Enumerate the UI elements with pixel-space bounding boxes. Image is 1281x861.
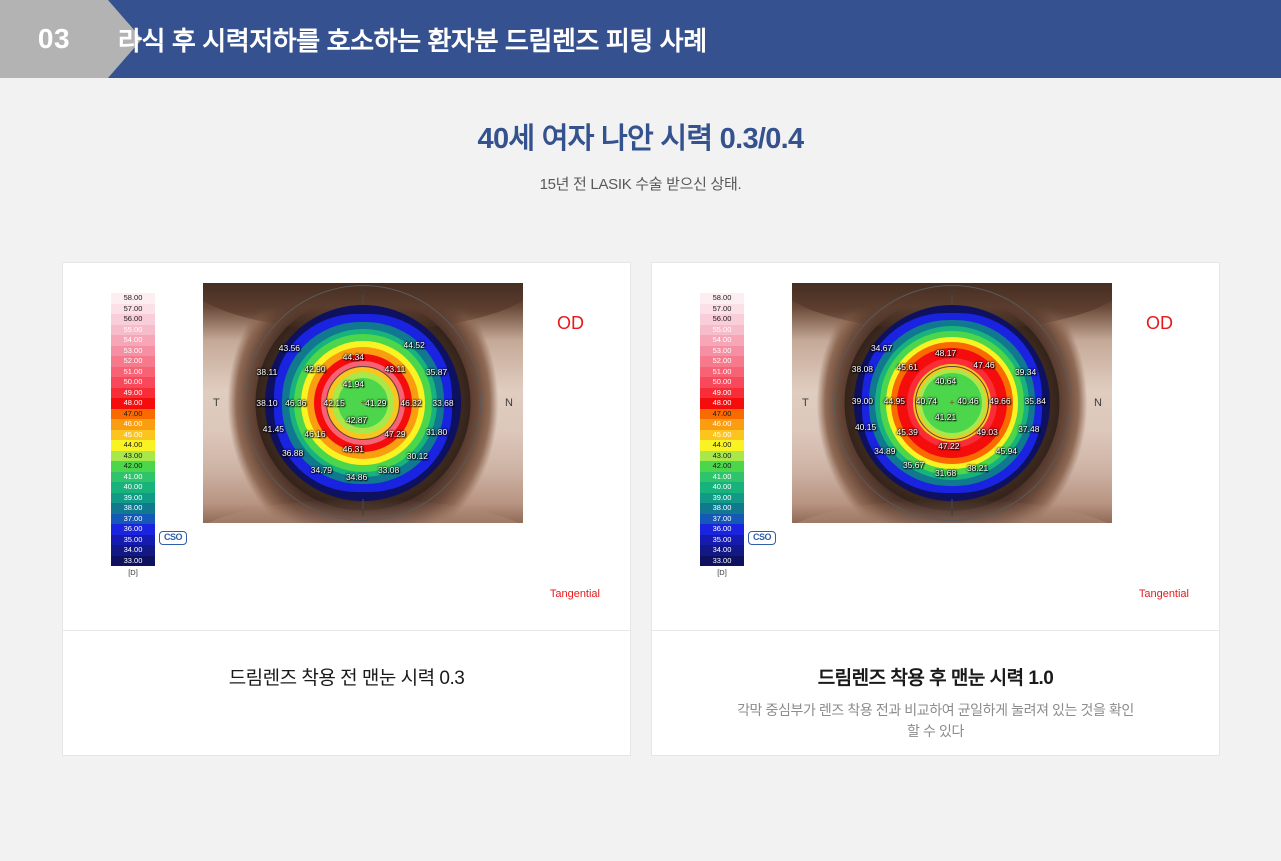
topography-value-label: 46.32	[400, 398, 421, 408]
color-scale-row: 42.00	[111, 461, 155, 472]
axis-tick	[363, 295, 364, 305]
topography-value-label: 46.31	[343, 444, 364, 454]
color-scale-row: 57.00	[700, 304, 744, 315]
eye-side-label: OD	[1146, 313, 1173, 334]
color-scale-row: 53.00	[700, 346, 744, 357]
color-scale-row: 46.00	[700, 419, 744, 430]
topography-value-label: 47.22	[938, 441, 959, 451]
topography-value-label: 41.45	[263, 424, 284, 434]
topography-value-label: 46.36	[285, 398, 306, 408]
topography-card: 58.0057.0056.0055.0054.0053.0052.0051.00…	[62, 262, 631, 756]
color-scale-row: 40.00	[700, 482, 744, 493]
topography-value-label: 44.95	[884, 396, 905, 406]
axis-tick	[952, 499, 953, 509]
color-scale-row: 48.00	[700, 398, 744, 409]
cso-logo-icon: CSO	[159, 531, 187, 545]
dioptre-color-scale: 58.0057.0056.0055.0054.0053.0052.0051.00…	[111, 293, 157, 577]
main-title: 40세 여자 나안 시력 0.3/0.4	[0, 122, 1281, 157]
topography-value-label: 42.90	[304, 364, 325, 374]
color-scale-row: 50.00	[111, 377, 155, 388]
color-scale-row: 58.00	[700, 293, 744, 304]
topography-value-label: 33.68	[432, 398, 453, 408]
color-scale-row: 53.00	[111, 346, 155, 357]
color-scale-row: 33.00	[700, 556, 744, 567]
color-scale-row: 37.00	[111, 514, 155, 525]
color-scale-row: 51.00	[111, 367, 155, 378]
axis-tick	[363, 499, 364, 509]
topography-value-label: 45.94	[996, 446, 1017, 456]
color-scale-row: 58.00	[111, 293, 155, 304]
caption-title: 드림렌즈 착용 전 맨눈 시력 0.3	[229, 667, 465, 692]
topography-value-label: 38.11	[257, 367, 278, 377]
color-scale-row: 52.00	[700, 356, 744, 367]
scale-unit-label: [D]	[700, 568, 744, 577]
topography-value-label: 35.87	[426, 367, 447, 377]
topography-value-label: 34.89	[874, 446, 895, 456]
color-scale-row: 42.00	[700, 461, 744, 472]
color-scale-row: 35.00	[700, 535, 744, 546]
color-scale-row: 39.00	[111, 493, 155, 504]
color-scale-row: 55.00	[111, 325, 155, 336]
topography-value-label: 40.64	[935, 376, 956, 386]
color-scale-row: 47.00	[700, 409, 744, 420]
color-scale-row: 54.00	[700, 335, 744, 346]
topography-value-label: 30.12	[407, 451, 428, 461]
color-scale-row: 47.00	[111, 409, 155, 420]
color-scale-row: 36.00	[111, 524, 155, 535]
scale-unit-label: [D]	[111, 568, 155, 577]
color-scale-row: 49.00	[111, 388, 155, 399]
topography-value-label: 40.74	[916, 396, 937, 406]
color-scale-row: 39.00	[700, 493, 744, 504]
topography-value-label: 44.34	[343, 352, 364, 362]
topography-value-label: 43.56	[279, 343, 300, 353]
color-scale-row: 56.00	[700, 314, 744, 325]
topography-figure: 58.0057.0056.0055.0054.0053.0052.0051.00…	[652, 263, 1219, 631]
topography-value-label: 42.87	[346, 415, 367, 425]
compass-label-temporal: T	[802, 397, 809, 409]
color-scale-row: 43.00	[700, 451, 744, 462]
topography-value-label: 39.34	[1015, 367, 1036, 377]
color-scale-row: 37.00	[700, 514, 744, 525]
topography-value-label: 38.21	[967, 463, 988, 473]
color-scale-row: 52.00	[111, 356, 155, 367]
color-scale-row: 45.00	[700, 430, 744, 441]
color-scale-row: 44.00	[700, 440, 744, 451]
color-scale-row: 38.00	[700, 503, 744, 514]
color-scale-row: 54.00	[111, 335, 155, 346]
sub-title: 15년 전 LASIK 수술 받으신 상태.	[0, 173, 1281, 194]
topography-value-label: 34.79	[311, 465, 332, 475]
title-area: 40세 여자 나안 시력 0.3/0.4 15년 전 LASIK 수술 받으신 …	[0, 78, 1281, 194]
topography-value-label: 49.66	[989, 396, 1010, 406]
topography-value-label: 47.29	[384, 429, 405, 439]
color-scale-row: 55.00	[700, 325, 744, 336]
topography-card-list: 58.0057.0056.0055.0054.0053.0052.0051.00…	[62, 262, 1220, 756]
color-scale-row: 36.00	[700, 524, 744, 535]
map-mode-label: Tangential	[1139, 588, 1189, 600]
corneal-topography-map: SITN+43.5644.3444.5238.1142.9043.1135.87…	[203, 283, 523, 523]
topography-value-label: 44.52	[404, 340, 425, 350]
caption-subtitle: 각막 중심부가 렌즈 착용 전과 비교하여 균일하게 눌려져 있는 것을 확인할…	[736, 700, 1136, 743]
color-scale-row: 41.00	[700, 472, 744, 483]
header-step-number: 03	[38, 25, 70, 53]
topography-value-label: 48.17	[935, 348, 956, 358]
map-mode-label: Tangential	[550, 588, 600, 600]
topography-value-label: 41.94	[343, 379, 364, 389]
center-crosshair-icon: +	[949, 400, 956, 407]
topography-value-label: 38.10	[256, 398, 277, 408]
topography-value-label: 36.88	[282, 448, 303, 458]
topography-value-label: 38.08	[852, 364, 873, 374]
color-scale-row: 45.00	[111, 430, 155, 441]
page-header: 03 라식 후 시력저하를 호소하는 환자분 드림렌즈 피팅 사례	[0, 0, 1281, 78]
color-scale-row: 34.00	[111, 545, 155, 556]
eye-side-label: OD	[557, 313, 584, 334]
topography-value-label: 31.68	[935, 468, 956, 478]
topography-value-label: 49.03	[977, 427, 998, 437]
topography-value-label: 42.15	[324, 398, 345, 408]
topography-value-label: 45.61	[897, 362, 918, 372]
color-scale-row: 49.00	[700, 388, 744, 399]
compass-label-nasal: N	[505, 397, 513, 409]
color-scale-row: 44.00	[111, 440, 155, 451]
color-scale-row: 35.00	[111, 535, 155, 546]
color-scale-row: 34.00	[700, 545, 744, 556]
color-scale-row: 38.00	[111, 503, 155, 514]
topography-value-label: 33.08	[378, 465, 399, 475]
topography-figure: 58.0057.0056.0055.0054.0053.0052.0051.00…	[63, 263, 630, 631]
color-scale-row: 51.00	[700, 367, 744, 378]
topography-value-label: 40.15	[855, 422, 876, 432]
color-scale-row: 50.00	[700, 377, 744, 388]
topography-card: 58.0057.0056.0055.0054.0053.0052.0051.00…	[651, 262, 1220, 756]
topography-value-label: 47.46	[973, 360, 994, 370]
topography-value-label: 46.16	[304, 429, 325, 439]
dioptre-color-scale: 58.0057.0056.0055.0054.0053.0052.0051.00…	[700, 293, 746, 577]
topography-value-label: 39.00	[852, 396, 873, 406]
caption-title: 드림렌즈 착용 후 맨눈 시력 1.0	[818, 667, 1054, 692]
card-caption: 드림렌즈 착용 전 맨눈 시력 0.3	[63, 631, 630, 755]
topography-value-label: 40.46	[957, 396, 978, 406]
topography-value-label: 41.21	[935, 412, 956, 422]
color-scale-row: 57.00	[111, 304, 155, 315]
color-scale-row: 46.00	[111, 419, 155, 430]
card-caption: 드림렌즈 착용 후 맨눈 시력 1.0각막 중심부가 렌즈 착용 전과 비교하여…	[652, 631, 1219, 755]
topography-value-label: 34.86	[346, 472, 367, 482]
color-scale-row: 43.00	[111, 451, 155, 462]
topography-value-label: 45.39	[897, 427, 918, 437]
color-scale-row: 33.00	[111, 556, 155, 567]
page-title: 라식 후 시력저하를 호소하는 환자분 드림렌즈 피팅 사례	[118, 0, 707, 78]
header-step-badge: 03	[0, 0, 108, 78]
color-scale-row: 56.00	[111, 314, 155, 325]
compass-label-nasal: N	[1094, 397, 1102, 409]
topography-value-label: 43.11	[385, 364, 406, 374]
topography-value-label: 31.80	[426, 427, 447, 437]
color-scale-row: 40.00	[111, 482, 155, 493]
topography-value-label: 35.67	[903, 460, 924, 470]
topography-value-label: 41.29	[365, 398, 386, 408]
topography-value-label: 34.67	[871, 343, 892, 353]
topography-value-label: 35.84	[1025, 396, 1046, 406]
topography-value-label: 37.48	[1018, 424, 1039, 434]
compass-label-temporal: T	[213, 397, 220, 409]
color-scale-row: 48.00	[111, 398, 155, 409]
cso-logo-icon: CSO	[748, 531, 776, 545]
axis-tick	[952, 295, 953, 305]
color-scale-row: 41.00	[111, 472, 155, 483]
corneal-topography-map: SITN+34.6748.1745.6147.4638.0839.3440.64…	[792, 283, 1112, 523]
